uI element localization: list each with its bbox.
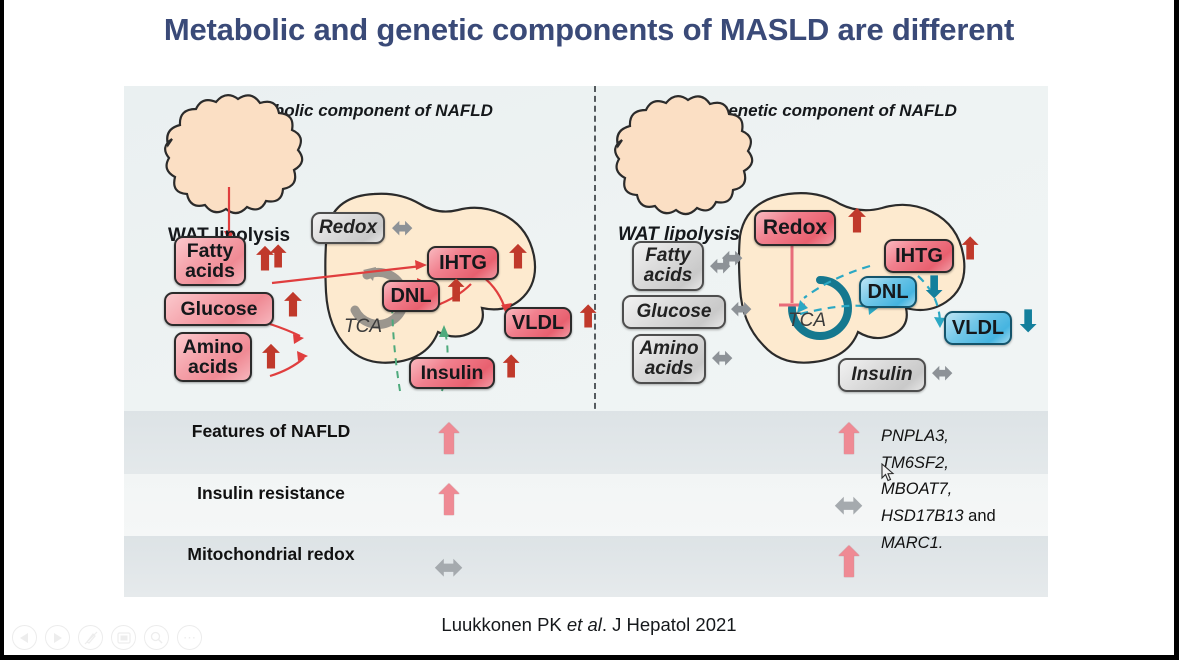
amino-acids-arrow-both: ⬌ [712,346,733,371]
magnifier-icon [150,631,163,644]
ellipsis-icon: ⋯ [183,631,196,644]
gene-item: HSD17B13 [881,507,964,525]
fatty-acids-arrow-up: ⬆ [252,244,278,275]
vldl-arrow-down: ⬇ [1016,308,1040,337]
node-fatty-acids: Fatty acids [632,241,704,291]
node-ihtg: IHTG [427,246,499,280]
node-dnl: DNL [382,280,440,312]
ihtg-arrow-up: ⬆ [958,236,982,265]
mitochondrial-redox-metabolic-arrow: ⬌ [404,546,494,588]
slide-view-button[interactable] [111,625,136,650]
zoom-button[interactable] [144,625,169,650]
gene-item-with-conjunction: HSD17B13 and [881,503,1051,530]
row-label-mitochondrial-redox: Mitochondrial redox [146,544,396,565]
node-insulin: Insulin [409,357,495,389]
node-vldl: VLDL [504,307,572,339]
figure-container: Metabolic component of NAFLD [124,86,1048,597]
citation-etal: et al [567,614,602,635]
citation-journal: . J Hepatol 2021 [602,614,737,635]
mouse-cursor [881,463,895,483]
gene-list-conjunction: and [968,507,996,525]
node-ihtg: IHTG [884,239,954,273]
node-dnl: DNL [859,276,917,308]
gene-item: PNPLA3, [881,423,1051,450]
node-tca-label: TCA [788,310,826,332]
citation-authors: Luukkonen PK [441,614,566,635]
more-options-button[interactable]: ⋯ [177,625,202,650]
dnl-arrow-up: ⬆ [444,278,468,307]
insulin-resistance-metabolic-arrow: ⬆ [404,476,494,525]
node-glucose: Glucose [622,295,726,329]
node-tca-label: TCA [344,316,382,338]
node-glucose: Glucose [164,292,274,326]
insulin-arrow-up: ⬆ [499,354,523,383]
wat-blob-shape [165,95,302,213]
grid-icon [117,632,131,644]
dnl-arrow-down: ⬇ [922,274,946,303]
amino-acids-arrow-up: ⬆ [258,342,284,373]
presentation-slide: Metabolic and genetic components of MASL… [0,0,1179,660]
glucose-arrow-both: ⬌ [731,297,752,322]
panel-metabolic: Metabolic component of NAFLD [124,86,594,411]
node-redox: Redox [754,210,836,246]
glucose-arrow-up: ⬆ [280,290,306,321]
node-fatty-acids: Fatty acids [174,236,246,286]
triangle-right-icon [53,633,62,643]
pen-icon [84,631,98,645]
fatty-acids-arrow-both: ⬌ [710,254,731,279]
arrow-glucose-to-liver [270,324,300,336]
gene-item: MBOAT7, [881,476,1051,503]
ihtg-arrow-up: ⬆ [505,242,531,273]
node-redox: Redox [311,212,385,244]
gene-item: TM6SF2, [881,450,1051,477]
presentation-toolbar[interactable]: ⋯ [12,625,202,650]
insulin-arrow-both: ⬌ [932,361,953,386]
comparison-table: Features of NAFLD ⬆ ⬆ Insulin resistance… [124,411,1048,597]
node-vldl: VLDL [944,311,1012,345]
next-slide-button[interactable] [45,625,70,650]
previous-slide-button[interactable] [12,625,37,650]
node-insulin: Insulin [838,358,926,392]
gene-item: MARC1. [881,530,1051,557]
node-amino-acids: Amino acids [174,332,252,382]
row-label-features: Features of NAFLD [146,421,396,442]
features-metabolic-arrow: ⬆ [404,415,494,464]
panel-genetic: Genetic component of NAFLD [596,86,1048,411]
slide-title: Metabolic and genetic components of MASL… [4,12,1174,48]
redox-arrow-up: ⬆ [844,206,870,237]
triangle-left-icon [20,633,29,643]
vldl-arrow-up: ⬆ [576,304,600,333]
node-amino-acids: Amino acids [632,334,706,384]
row-label-insulin-resistance: Insulin resistance [146,483,396,504]
annotate-button[interactable] [78,625,103,650]
gene-list: PNPLA3, TM6SF2, MBOAT7, HSD17B13 and MAR… [881,423,1051,557]
redox-arrow-both: ⬌ [392,216,413,241]
wat-blob-shape [615,96,752,214]
